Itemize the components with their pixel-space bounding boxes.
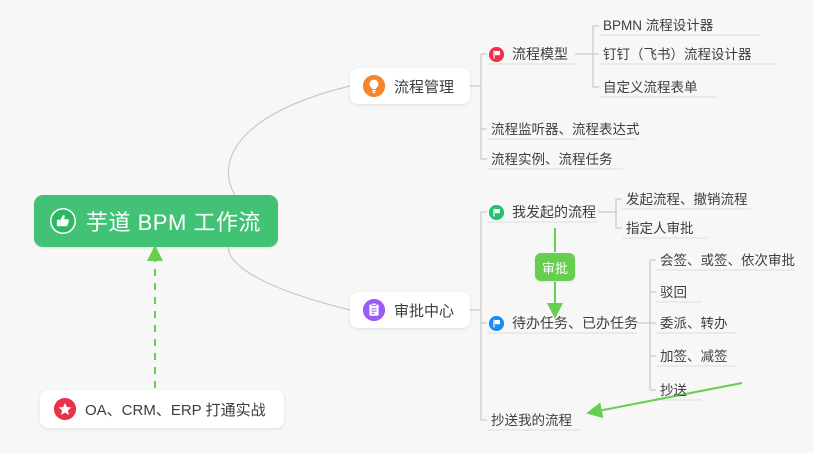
link-pmodel-to-bpmn [593, 26, 599, 54]
node-process-model[interactable]: 流程模型 [489, 44, 568, 68]
leaf-delegate-transfer[interactable]: 委派、转办 [660, 312, 728, 336]
leaf-reject[interactable]: 驳回 [660, 281, 687, 305]
root-node[interactable]: 芋道 BPM 工作流 [34, 195, 278, 247]
star-icon [54, 398, 76, 420]
approval-badge: 审批 [535, 253, 575, 281]
leaf-dingtalk-designer[interactable]: 钉钉（飞书）流程设计器 [603, 43, 752, 67]
node-todo-done-tasks[interactable]: 待办任务、已办任务 [489, 313, 638, 337]
flag-icon [489, 316, 504, 331]
leaf-bpmn-designer[interactable]: BPMN 流程设计器 [603, 14, 713, 38]
callout-integration-label: OA、CRM、ERP 打通实战 [85, 399, 266, 420]
node-todo-done-tasks-label: 待办任务、已办任务 [512, 313, 638, 333]
leaf-cc-my-flows[interactable]: 抄送我的流程 [491, 409, 572, 433]
leaf-add-remove-sign[interactable]: 加签、减签 [660, 345, 728, 369]
leaf-assignee-approval[interactable]: 指定人审批 [626, 217, 694, 241]
leaf-listener-expression[interactable]: 流程监听器、流程表达式 [491, 118, 640, 142]
leaf-launch-cancel[interactable]: 发起流程、撤销流程 [626, 188, 748, 212]
callout-integration[interactable]: OA、CRM、ERP 打通实战 [40, 390, 284, 428]
link-mystarted-to-launch [616, 199, 622, 212]
clipboard-icon [363, 299, 385, 321]
lightbulb-icon [363, 75, 385, 97]
branch-approval-center[interactable]: 审批中心 [350, 292, 470, 328]
flag-icon [489, 205, 504, 220]
link-pmodel-to-customform [593, 54, 599, 87]
root-label: 芋道 BPM 工作流 [86, 205, 261, 237]
node-my-started-flows-label: 我发起的流程 [512, 202, 596, 222]
leaf-instance-task[interactable]: 流程实例、流程任务 [491, 148, 613, 172]
leaf-custom-form[interactable]: 自定义流程表单 [603, 76, 698, 100]
link-mystarted-to-assignee [616, 212, 622, 228]
leaf-countersign[interactable]: 会签、或签、依次审批 [660, 249, 795, 273]
flag-icon [489, 47, 504, 62]
branch-process-management[interactable]: 流程管理 [350, 68, 470, 104]
leaf-cc[interactable]: 抄送 [660, 379, 687, 403]
branch-approval-center-label: 审批中心 [394, 300, 454, 321]
mindmap-canvas: 芋道 BPM 工作流 流程管理 审批中心 [0, 0, 814, 453]
node-process-model-label: 流程模型 [512, 44, 568, 64]
thumbs-up-icon [50, 208, 76, 234]
node-my-started-flows[interactable]: 我发起的流程 [489, 202, 596, 226]
branch-process-management-label: 流程管理 [394, 76, 454, 97]
link-pm-to-instance [481, 129, 487, 159]
approval-badge-label: 审批 [542, 258, 568, 277]
